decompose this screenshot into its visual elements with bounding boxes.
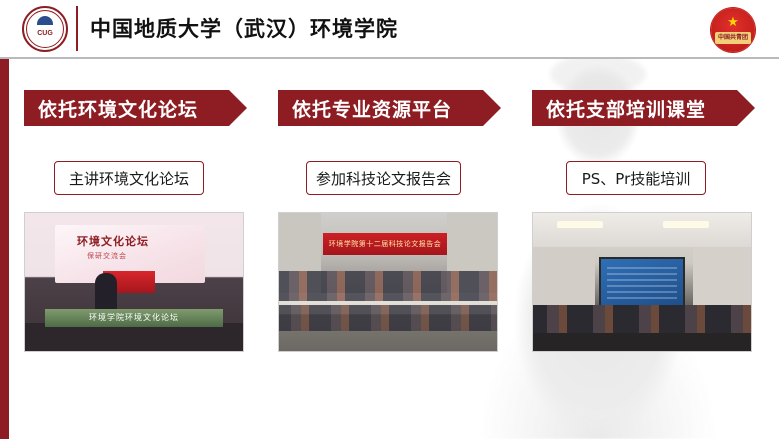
column-3-pill: PS、Pr技能培训	[566, 161, 706, 195]
column-1-banner: 依托环境文化论坛	[24, 90, 229, 126]
photo-1-stage-subcaption: 保研交流会	[87, 251, 127, 261]
column-1-banner-label: 依托环境文化论坛	[38, 95, 198, 122]
column-3-banner-label: 依托支部培训课堂	[546, 95, 706, 122]
column-2-banner-label: 依托专业资源平台	[292, 95, 452, 122]
column-2-pill-label: 参加科技论文报告会	[316, 168, 451, 189]
column-2-banner: 依托专业资源平台	[278, 90, 483, 126]
photo-environment-culture-forum: 环境文化论坛 保研交流会 环境学院环境文化论坛	[24, 212, 244, 352]
banner-arrow-icon	[483, 90, 501, 126]
photo-1-stage-caption: 环境文化论坛	[77, 233, 149, 249]
column-3-pill-label: PS、Pr技能培训	[582, 168, 691, 189]
column-3: 依托支部培训课堂 PS、Pr技能培训	[508, 0, 758, 439]
slide-canvas: CUG 中国地质大学（武汉）环境学院 ★ 中国共青团 依托环境文化论坛 主讲环境…	[0, 0, 779, 439]
banner-arrow-icon	[229, 90, 247, 126]
column-2-pill: 参加科技论文报告会	[306, 161, 461, 195]
column-1: 依托环境文化论坛 主讲环境文化论坛 环境文化论坛 保研交流会 环境学院环境文化论…	[0, 0, 250, 439]
column-1-pill-label: 主讲环境文化论坛	[69, 168, 189, 189]
photo-academic-paper-conference: 环境学院第十二届科技论文报告会	[278, 212, 498, 352]
banner-arrow-icon	[737, 90, 755, 126]
photo-1-banner-text: 环境学院环境文化论坛	[45, 309, 223, 327]
column-1-pill: 主讲环境文化论坛	[54, 161, 204, 195]
photo-2-banner-text: 环境学院第十二届科技论文报告会	[323, 233, 447, 255]
column-2: 依托专业资源平台 参加科技论文报告会 环境学院第十二届科技论文报告会	[254, 0, 504, 439]
photo-skills-training-classroom	[532, 212, 752, 352]
column-3-banner: 依托支部培训课堂	[532, 90, 737, 126]
